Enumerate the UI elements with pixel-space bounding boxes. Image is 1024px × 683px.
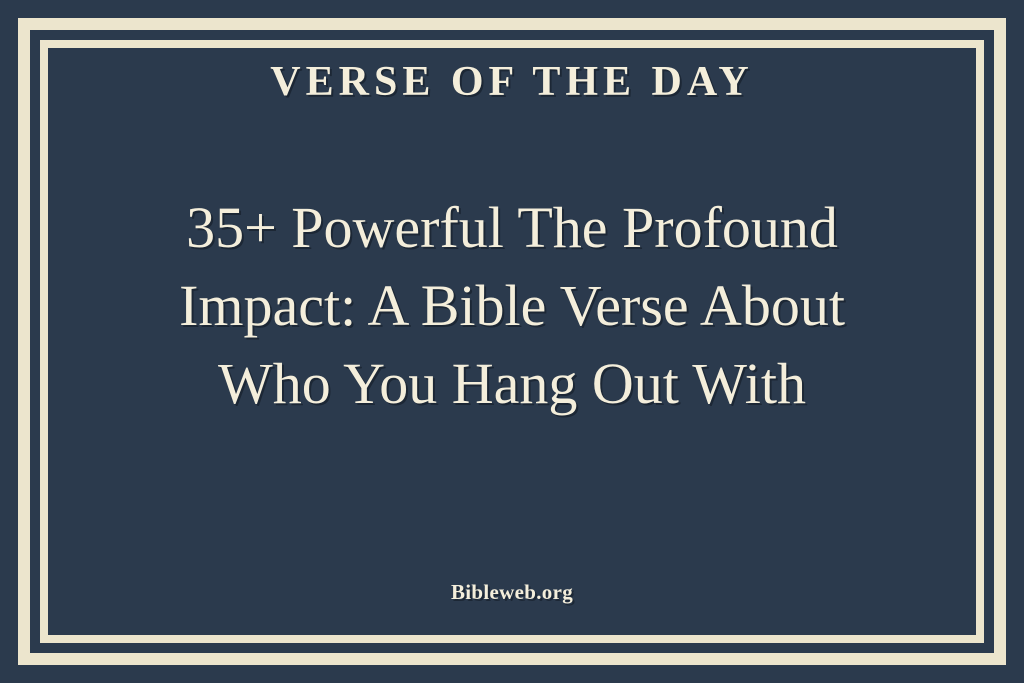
verse-of-the-day-card: VERSE OF THE DAY 35+ Powerful The Profou… <box>0 0 1024 683</box>
site-attribution: Bibleweb.org <box>451 580 573 605</box>
frame-outer-border: VERSE OF THE DAY 35+ Powerful The Profou… <box>18 18 1006 665</box>
headline-container: 35+ Powerful The Profound Impact: A Bibl… <box>48 104 976 580</box>
frame-inner-border: VERSE OF THE DAY 35+ Powerful The Profou… <box>40 40 984 643</box>
kicker-title: VERSE OF THE DAY <box>270 60 753 104</box>
card-content: VERSE OF THE DAY 35+ Powerful The Profou… <box>48 48 976 635</box>
page-title: 35+ Powerful The Profound Impact: A Bibl… <box>127 189 897 423</box>
